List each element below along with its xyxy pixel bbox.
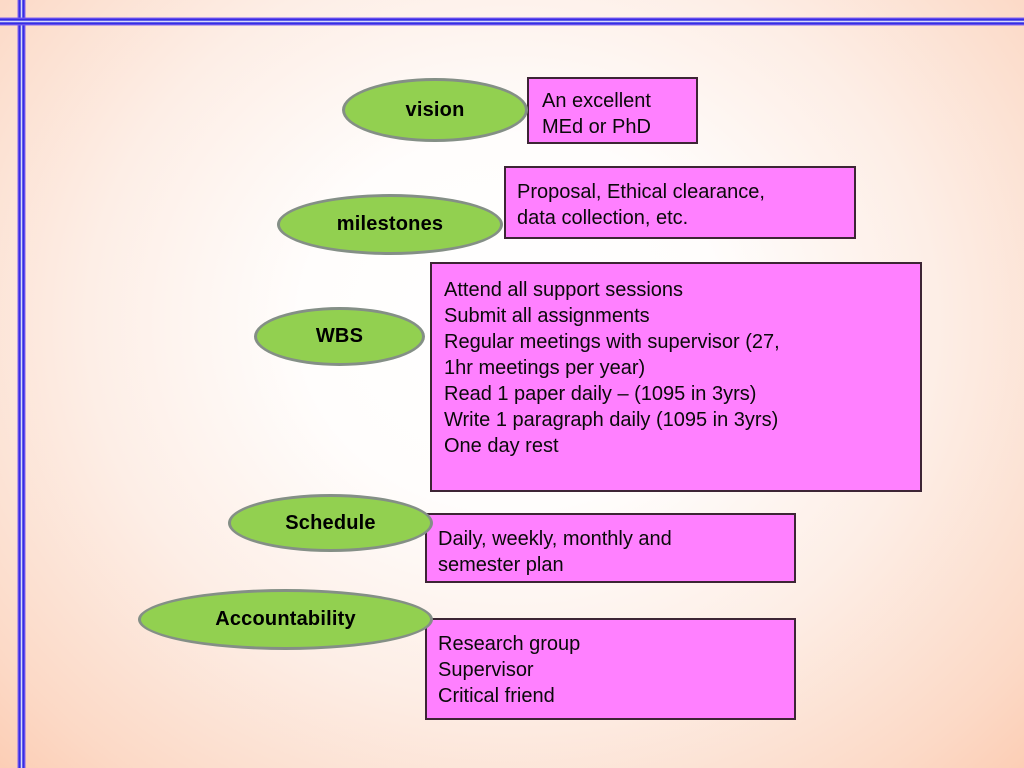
callout-text-schedule: Daily, weekly, monthly and semester plan [438, 526, 794, 578]
slide-canvas: An excellent MEd or PhD vision Proposal,… [0, 0, 1024, 768]
node-ellipse-vision: vision [342, 78, 528, 142]
callout-text-accountability: Research group Supervisor Critical frien… [438, 631, 794, 709]
node-label-schedule: Schedule [285, 512, 376, 535]
callout-text-wbs: Attend all support sessions Submit all a… [444, 277, 920, 459]
node-ellipse-wbs: WBS [254, 307, 425, 366]
callout-box-milestones: Proposal, Ethical clearance, data collec… [504, 166, 856, 239]
node-ellipse-accountability: Accountability [138, 589, 433, 650]
frame-vertical-line [17, 0, 26, 768]
node-label-accountability: Accountability [215, 608, 356, 631]
callout-box-vision: An excellent MEd or PhD [527, 77, 698, 144]
node-ellipse-milestones: milestones [277, 194, 503, 255]
callout-box-wbs: Attend all support sessions Submit all a… [430, 262, 922, 492]
callout-text-milestones: Proposal, Ethical clearance, data collec… [517, 179, 854, 231]
node-label-wbs: WBS [316, 325, 363, 348]
node-label-milestones: milestones [337, 213, 443, 236]
node-label-vision: vision [406, 99, 465, 122]
callout-box-accountability: Research group Supervisor Critical frien… [425, 618, 796, 720]
node-ellipse-schedule: Schedule [228, 494, 433, 552]
callout-text-vision: An excellent MEd or PhD [542, 88, 696, 140]
callout-box-schedule: Daily, weekly, monthly and semester plan [425, 513, 796, 583]
frame-horizontal-line [0, 17, 1024, 26]
